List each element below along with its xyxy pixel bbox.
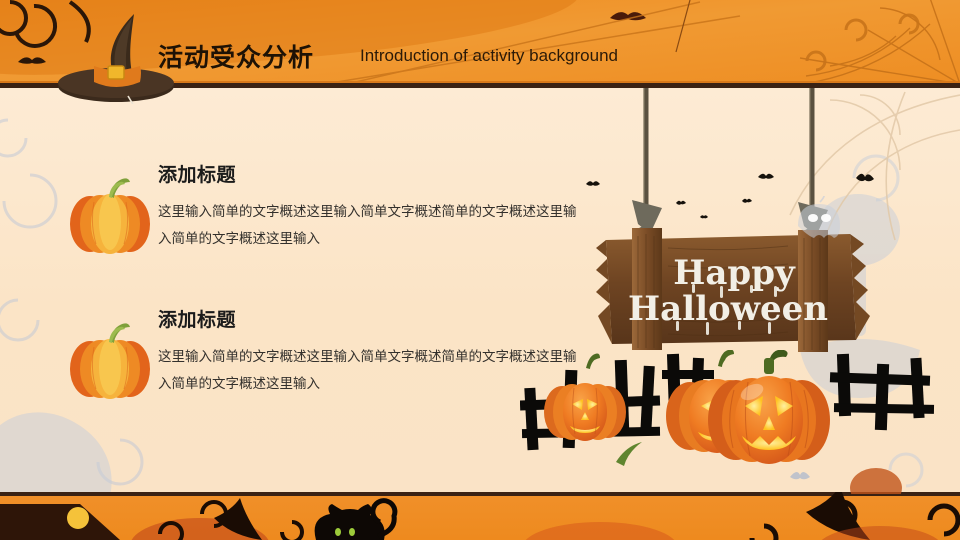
sign-text-line2: Halloween — [628, 289, 828, 329]
halloween-scene — [520, 350, 950, 470]
block-heading: 添加标题 — [158, 305, 618, 332]
footer-band — [0, 492, 960, 540]
rope — [646, 88, 812, 210]
slide-canvas: 活动受众分析 Introduction of activity backgrou… — [0, 0, 960, 540]
block-body: 这里输入简单的文字概述这里输入简单文字概述简单的文字概述这里输入简单的文字概述这… — [158, 344, 578, 398]
pumpkin-icon — [64, 317, 156, 403]
pumpkin-icon — [64, 172, 156, 258]
sign-text-line1: Happy — [673, 253, 796, 293]
spider-web-icon — [790, 0, 960, 88]
footer-decoration — [0, 492, 960, 540]
sign-board: Happy Halloween — [596, 228, 870, 352]
jack-o-lantern — [708, 350, 830, 464]
block-heading: 添加标题 — [158, 160, 618, 187]
bat-icon — [700, 214, 710, 220]
content-block-text: 添加标题 这里输入简单的文字概述这里输入简单文字概述简单的文字概述这里输入简单的… — [158, 160, 618, 253]
jack-o-lantern — [544, 354, 626, 442]
bat-icon — [790, 470, 814, 484]
bat-icon — [586, 180, 604, 190]
block-body: 这里输入简单的文字概述这里输入简单文字概述简单的文字概述这里输入简单的文字概述这… — [158, 199, 578, 253]
bat-icon — [856, 172, 878, 186]
moon-icon — [67, 507, 89, 529]
bat-icon — [676, 200, 688, 207]
page-title: 活动受众分析 — [158, 38, 314, 74]
bat-icon — [742, 198, 754, 205]
bat-icon — [18, 57, 46, 63]
ghost-icon — [790, 196, 848, 240]
bat-icon — [758, 172, 778, 183]
page-subtitle: Introduction of activity background — [360, 46, 618, 66]
pumpkin-silhouette — [848, 458, 904, 494]
